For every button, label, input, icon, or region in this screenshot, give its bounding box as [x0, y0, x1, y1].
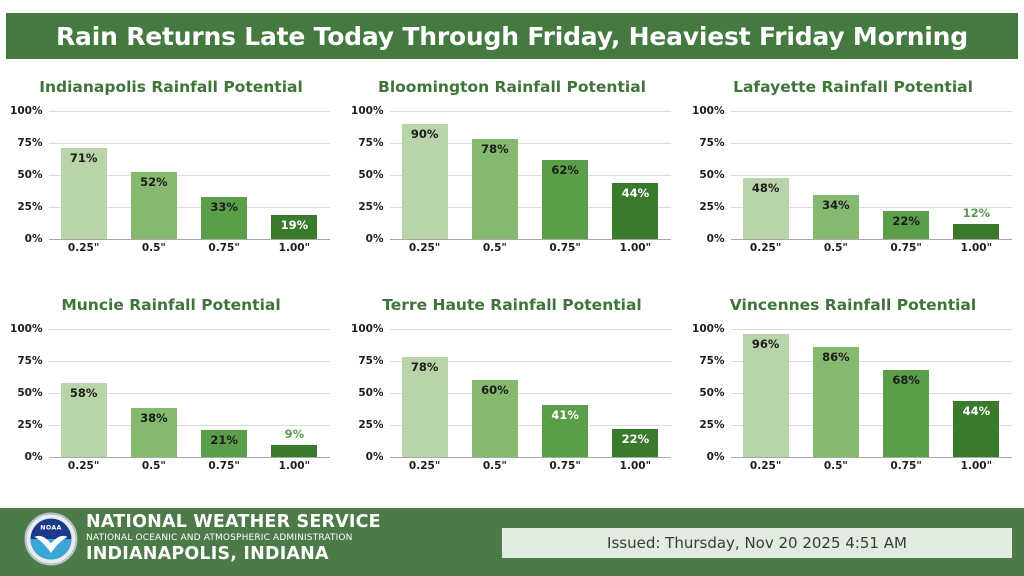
x-axis-ticks: 0.25"0.5"0.75"1.00" — [49, 242, 330, 254]
page-title: Rain Returns Late Today Through Friday, … — [56, 22, 968, 51]
bar-slot: 78% — [469, 111, 521, 239]
bar-value-label: 33% — [201, 200, 247, 214]
chart-title: Muncie Rainfall Potential — [1, 296, 342, 314]
nws-agency-text: NATIONAL WEATHER SERVICE NATIONAL OCEANI… — [86, 512, 381, 565]
x-axis-ticks: 0.25"0.5"0.75"1.00" — [49, 460, 330, 472]
weather-graphic: Rain Returns Late Today Through Friday, … — [0, 0, 1024, 576]
bar-value-label: 78% — [402, 360, 448, 374]
bar-slot: 33% — [198, 111, 250, 239]
y-axis-tick-label: 0% — [25, 451, 43, 463]
bar: 62% — [542, 160, 588, 239]
bar-slot: 38% — [128, 329, 180, 457]
y-axis-tick-label: 25% — [699, 419, 724, 431]
bar-slot: 71% — [58, 111, 110, 239]
bar-value-label: 41% — [542, 408, 588, 422]
y-axis-tick-label: 75% — [358, 355, 383, 367]
y-axis-tick-label: 25% — [358, 201, 383, 213]
x-axis-tick-label: 0.25" — [58, 242, 110, 254]
y-axis-tick-label: 75% — [17, 137, 42, 149]
y-axis-tick-label: 25% — [699, 201, 724, 213]
y-axis-tick-label: 75% — [699, 355, 724, 367]
x-axis-tick-label: 1.00" — [950, 460, 1002, 472]
bar-value-label: 12% — [950, 206, 1002, 220]
bar-value-label: 58% — [61, 386, 107, 400]
x-axis-tick-label: 0.75" — [198, 242, 250, 254]
x-axis-tick-label: 0.5" — [128, 460, 180, 472]
x-axis-tick-label: 0.75" — [880, 460, 932, 472]
y-axis-tick-label: 75% — [699, 137, 724, 149]
bar: 71% — [61, 148, 107, 239]
header-banner: Rain Returns Late Today Through Friday, … — [6, 13, 1018, 59]
bar: 33% — [201, 197, 247, 239]
bar-value-label: 44% — [953, 404, 999, 418]
agency-subtitle: NATIONAL OCEANIC AND ATMOSPHERIC ADMINIS… — [86, 532, 381, 544]
bar-value-label: 21% — [201, 433, 247, 447]
y-axis-tick-label: 0% — [25, 233, 43, 245]
bar-slot: 21% — [198, 329, 250, 457]
office-location: INDIANAPOLIS, INDIANA — [86, 544, 381, 565]
y-axis-tick-label: 50% — [17, 169, 42, 181]
x-axis-ticks: 0.25"0.5"0.75"1.00" — [731, 460, 1012, 472]
chart-panel: Terre Haute Rainfall Potential0%25%50%75… — [342, 284, 683, 502]
bar-slot: 86% — [810, 329, 862, 457]
bar: 44% — [953, 401, 999, 457]
bar-slot: 58% — [58, 329, 110, 457]
x-axis-tick-label: 0.25" — [58, 460, 110, 472]
x-axis-tick-label: 1.00" — [609, 242, 661, 254]
x-axis-tick-label: 0.25" — [399, 460, 451, 472]
bar: 22% — [612, 429, 658, 457]
bar-slot: 22% — [609, 329, 661, 457]
bar-slot: 68% — [880, 329, 932, 457]
y-axis-tick-label: 25% — [358, 419, 383, 431]
bar-slot: 44% — [609, 111, 661, 239]
issued-timestamp: Issued: Thursday, Nov 20 2025 4:51 AM — [607, 534, 907, 552]
x-axis-ticks: 0.25"0.5"0.75"1.00" — [390, 460, 671, 472]
x-axis-tick-label: 1.00" — [950, 242, 1002, 254]
bar-value-label: 34% — [813, 198, 859, 212]
bar: 34% — [813, 195, 859, 239]
agency-name: NATIONAL WEATHER SERVICE — [86, 512, 381, 532]
bar-group: 96%86%68%44% — [731, 329, 1012, 457]
x-axis-tick-label: 1.00" — [268, 242, 320, 254]
bar: 38% — [131, 408, 177, 457]
y-axis-tick-label: 25% — [17, 201, 42, 213]
x-axis-tick-label: 0.5" — [469, 242, 521, 254]
x-axis-tick-label: 0.75" — [539, 460, 591, 472]
bar: 68% — [883, 370, 929, 457]
bar-group: 78%60%41%22% — [390, 329, 671, 457]
bar: 78% — [402, 357, 448, 457]
axis-baseline: 0% — [731, 239, 1012, 240]
issued-box: Issued: Thursday, Nov 20 2025 4:51 AM — [502, 528, 1012, 558]
y-axis-tick-label: 50% — [358, 169, 383, 181]
svg-text:NOAA: NOAA — [40, 525, 61, 532]
x-axis-ticks: 0.25"0.5"0.75"1.00" — [731, 242, 1012, 254]
bar-group: 71%52%33%19% — [49, 111, 330, 239]
x-axis-tick-label: 0.75" — [198, 460, 250, 472]
y-axis-tick-label: 0% — [707, 451, 725, 463]
bar-slot: 78% — [399, 329, 451, 457]
plot-area: 0%25%50%75%100%78%60%41%22% — [390, 329, 671, 457]
x-axis-tick-label: 0.5" — [810, 460, 862, 472]
plot-area: 0%25%50%75%100%71%52%33%19% — [49, 111, 330, 239]
bar-value-label: 9% — [268, 427, 320, 441]
axis-baseline: 0% — [390, 239, 671, 240]
y-axis-tick-label: 100% — [10, 105, 42, 117]
bar-value-label: 52% — [131, 175, 177, 189]
x-axis-tick-label: 1.00" — [609, 460, 661, 472]
bar: 19% — [271, 215, 317, 239]
bar: 60% — [472, 380, 518, 457]
bar-slot: 62% — [539, 111, 591, 239]
plot-area: 0%25%50%75%100%48%34%22%12% — [731, 111, 1012, 239]
chart-title: Indianapolis Rainfall Potential — [1, 78, 342, 96]
bar-value-label: 78% — [472, 142, 518, 156]
y-axis-tick-label: 75% — [358, 137, 383, 149]
chart-panel: Indianapolis Rainfall Potential0%25%50%7… — [1, 66, 342, 284]
bar-value-label: 60% — [472, 383, 518, 397]
x-axis-tick-label: 1.00" — [268, 460, 320, 472]
y-axis-tick-label: 50% — [17, 387, 42, 399]
y-axis-tick-label: 100% — [351, 323, 383, 335]
y-axis-tick-label: 50% — [699, 387, 724, 399]
y-axis-tick-label: 0% — [366, 451, 384, 463]
bar-slot: 52% — [128, 111, 180, 239]
y-axis-tick-label: 75% — [17, 355, 42, 367]
plot-area: 0%25%50%75%100%96%86%68%44% — [731, 329, 1012, 457]
y-axis-tick-label: 0% — [366, 233, 384, 245]
bar: 21% — [201, 430, 247, 457]
bar-value-label: 62% — [542, 163, 588, 177]
bar-value-label: 19% — [271, 218, 317, 232]
bar-group: 58%38%21%9% — [49, 329, 330, 457]
bar-slot: 90% — [399, 111, 451, 239]
axis-baseline: 0% — [49, 239, 330, 240]
bar — [953, 224, 999, 239]
y-axis-tick-label: 50% — [699, 169, 724, 181]
bar-slot: 19% — [268, 111, 320, 239]
axis-baseline: 0% — [731, 457, 1012, 458]
noaa-seal-icon: NOAA — [24, 512, 78, 566]
x-axis-tick-label: 0.75" — [539, 242, 591, 254]
chart-title: Terre Haute Rainfall Potential — [342, 296, 683, 314]
charts-grid: Indianapolis Rainfall Potential0%25%50%7… — [0, 66, 1024, 502]
x-axis-tick-label: 0.5" — [810, 242, 862, 254]
bar-slot: 22% — [880, 111, 932, 239]
axis-baseline: 0% — [390, 457, 671, 458]
chart-title: Lafayette Rainfall Potential — [683, 78, 1024, 96]
bar-value-label: 96% — [743, 337, 789, 351]
bar-value-label: 48% — [743, 181, 789, 195]
bar-value-label: 38% — [131, 411, 177, 425]
bar-slot: 9% — [268, 329, 320, 457]
bar-value-label: 22% — [883, 214, 929, 228]
bar: 58% — [61, 383, 107, 457]
chart-panel: Muncie Rainfall Potential0%25%50%75%100%… — [1, 284, 342, 502]
bar-slot: 34% — [810, 111, 862, 239]
bar-slot: 48% — [740, 111, 792, 239]
plot-area: 0%25%50%75%100%58%38%21%9% — [49, 329, 330, 457]
bar: 52% — [131, 172, 177, 239]
bar: 90% — [402, 124, 448, 239]
bar-value-label: 71% — [61, 151, 107, 165]
bar-value-label: 68% — [883, 373, 929, 387]
bar: 44% — [612, 183, 658, 239]
bar: 96% — [743, 334, 789, 457]
bar — [271, 445, 317, 457]
bar: 78% — [472, 139, 518, 239]
bar-group: 90%78%62%44% — [390, 111, 671, 239]
y-axis-tick-label: 100% — [692, 323, 724, 335]
bar-slot: 41% — [539, 329, 591, 457]
bar-group: 48%34%22%12% — [731, 111, 1012, 239]
bar-slot: 12% — [950, 111, 1002, 239]
x-axis-tick-label: 0.25" — [399, 242, 451, 254]
bar: 22% — [883, 211, 929, 239]
bar-value-label: 86% — [813, 350, 859, 364]
y-axis-tick-label: 50% — [358, 387, 383, 399]
bar-slot: 44% — [950, 329, 1002, 457]
bar-slot: 60% — [469, 329, 521, 457]
bar-slot: 96% — [740, 329, 792, 457]
chart-panel: Lafayette Rainfall Potential0%25%50%75%1… — [683, 66, 1024, 284]
x-axis-tick-label: 0.75" — [880, 242, 932, 254]
x-axis-ticks: 0.25"0.5"0.75"1.00" — [390, 242, 671, 254]
bar: 48% — [743, 178, 789, 239]
chart-panel: Bloomington Rainfall Potential0%25%50%75… — [342, 66, 683, 284]
y-axis-tick-label: 25% — [17, 419, 42, 431]
bar-value-label: 44% — [612, 186, 658, 200]
x-axis-tick-label: 0.5" — [469, 460, 521, 472]
chart-title: Bloomington Rainfall Potential — [342, 78, 683, 96]
y-axis-tick-label: 100% — [10, 323, 42, 335]
chart-title: Vincennes Rainfall Potential — [683, 296, 1024, 314]
chart-panel: Vincennes Rainfall Potential0%25%50%75%1… — [683, 284, 1024, 502]
bar: 86% — [813, 347, 859, 457]
bar-value-label: 22% — [612, 432, 658, 446]
plot-area: 0%25%50%75%100%90%78%62%44% — [390, 111, 671, 239]
y-axis-tick-label: 100% — [351, 105, 383, 117]
x-axis-tick-label: 0.25" — [740, 460, 792, 472]
y-axis-tick-label: 0% — [707, 233, 725, 245]
x-axis-tick-label: 0.5" — [128, 242, 180, 254]
axis-baseline: 0% — [49, 457, 330, 458]
bar: 41% — [542, 405, 588, 457]
bar-value-label: 90% — [402, 127, 448, 141]
x-axis-tick-label: 0.25" — [740, 242, 792, 254]
y-axis-tick-label: 100% — [692, 105, 724, 117]
